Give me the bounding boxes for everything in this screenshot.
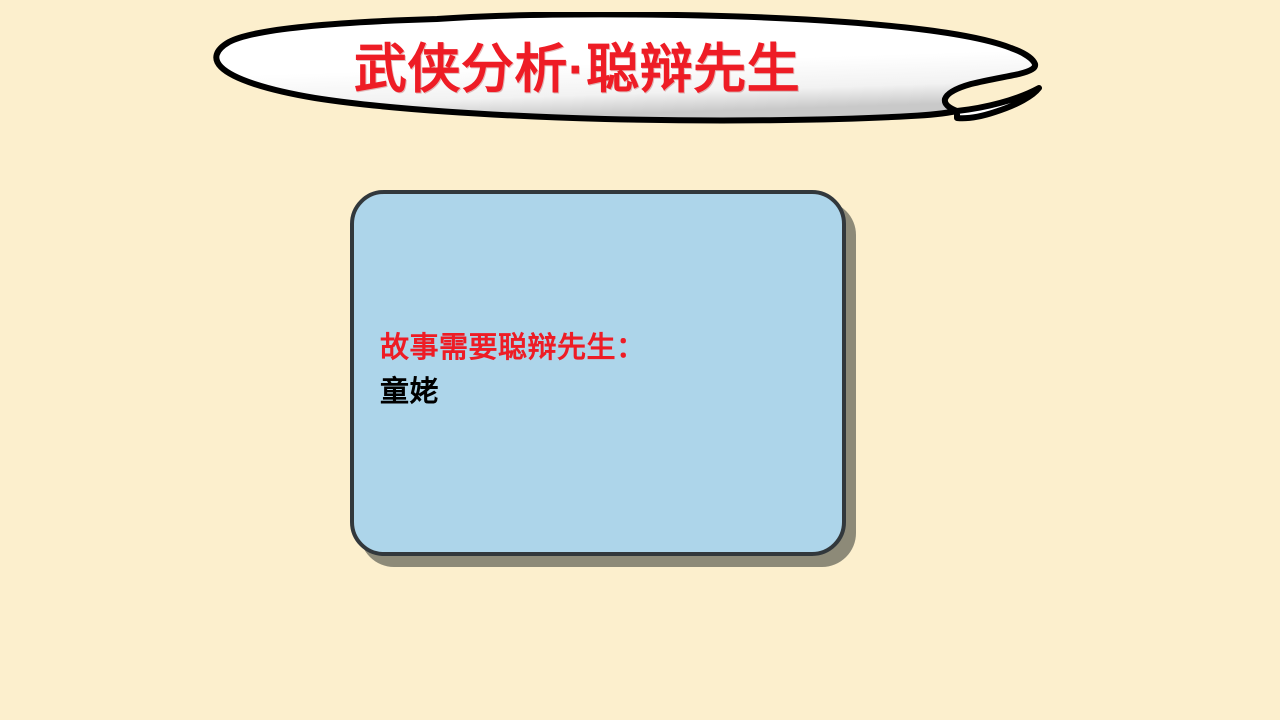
content-line-answer: 童姥 (380, 370, 824, 414)
title-speech-bubble: 武侠分析·聪辩先生 (205, 12, 1045, 127)
content-box-container: 故事需要聪辩先生： 童姥 (350, 190, 846, 556)
page-title: 武侠分析·聪辩先生 (205, 12, 1045, 127)
content-body: 故事需要聪辩先生： 童姥 (380, 326, 824, 414)
slide-canvas: 武侠分析·聪辩先生 故事需要聪辩先生： 童姥 (0, 0, 1280, 720)
content-line-heading: 故事需要聪辩先生： (380, 326, 824, 370)
content-box: 故事需要聪辩先生： 童姥 (350, 190, 846, 556)
